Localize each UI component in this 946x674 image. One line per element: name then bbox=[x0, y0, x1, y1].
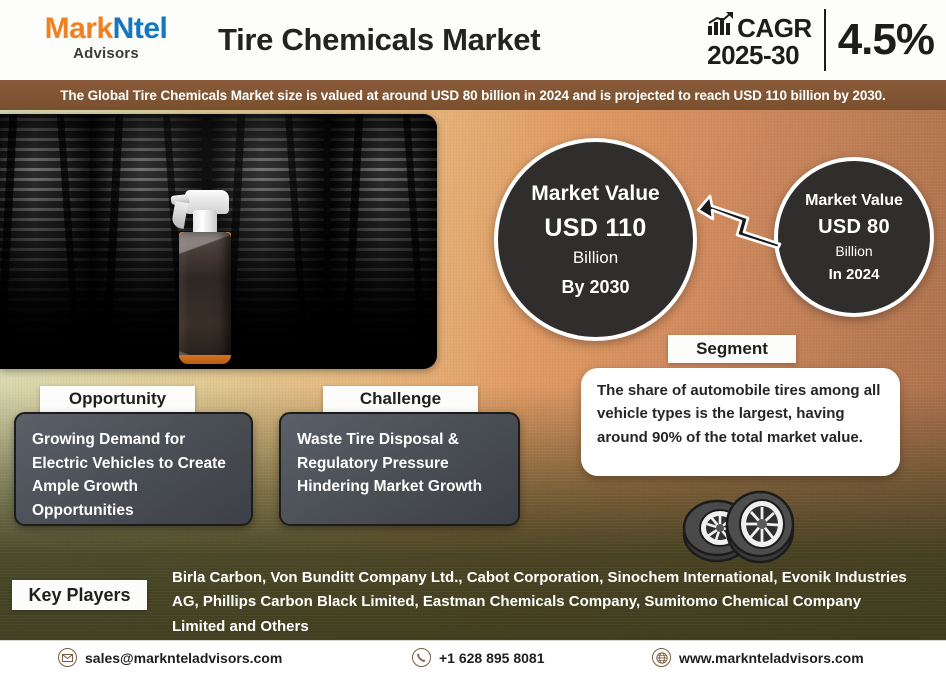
cagr-block: CAGR 2025-30 4.5% bbox=[707, 6, 934, 74]
segment-card: The share of automobile tires among all … bbox=[581, 368, 900, 476]
company-logo[interactable]: MarkNtel Advisors bbox=[26, 14, 186, 62]
circle-2030-year: By 2030 bbox=[561, 277, 629, 298]
circle-2024-line1: Market Value bbox=[805, 192, 903, 210]
market-value-2024-circle: Market Value USD 80 Billion In 2024 bbox=[774, 157, 934, 317]
logo-wordmark: MarkNtel bbox=[26, 14, 186, 44]
logo-text-ntel: Ntel bbox=[113, 12, 168, 45]
phone-icon bbox=[412, 648, 431, 667]
circle-2030-unit: Billion bbox=[573, 248, 618, 268]
logo-tagline: Advisors bbox=[26, 45, 186, 62]
market-value-2030-circle: Market Value USD 110 Billion By 2030 bbox=[494, 138, 697, 341]
cagr-label: CAGR bbox=[737, 15, 812, 41]
opportunity-label-chip: Opportunity bbox=[40, 386, 195, 412]
footer-website[interactable]: www.marknteladvisors.com bbox=[652, 648, 864, 667]
hero-image-tires-and-spray-bottle bbox=[0, 114, 437, 369]
footer-phone[interactable]: +1 628 895 8081 bbox=[412, 648, 545, 667]
cagr-value: 4.5% bbox=[826, 18, 934, 62]
zigzag-growth-arrow bbox=[696, 192, 782, 252]
market-summary-bar: The Global Tire Chemicals Market size is… bbox=[0, 80, 946, 110]
key-players-list: Birla Carbon, Von Bunditt Company Ltd., … bbox=[172, 566, 912, 639]
segment-label-chip: Segment bbox=[668, 335, 796, 363]
cagr-label-group: CAGR 2025-30 bbox=[707, 11, 824, 69]
circle-2024-value: USD 80 bbox=[818, 216, 890, 239]
footer-email-text: sales@marknteladvisors.com bbox=[85, 650, 282, 666]
circle-2024-unit: Billion bbox=[835, 243, 872, 259]
logo-text-mark: Mark bbox=[45, 12, 113, 45]
cagr-years: 2025-30 bbox=[707, 42, 799, 69]
circle-2024-year: In 2024 bbox=[829, 266, 880, 283]
key-players-label-chip: Key Players bbox=[12, 580, 147, 610]
spray-bottle-graphic bbox=[179, 186, 231, 364]
footer-phone-text: +1 628 895 8081 bbox=[439, 650, 545, 666]
opportunity-card: Growing Demand for Electric Vehicles to … bbox=[14, 412, 253, 526]
page-title: Tire Chemicals Market bbox=[218, 14, 638, 66]
infographic-root: MarkNtel Advisors Tire Chemicals Market bbox=[0, 0, 946, 674]
circle-2030-line1: Market Value bbox=[531, 182, 659, 206]
globe-icon bbox=[652, 648, 671, 667]
two-tires-icon bbox=[672, 486, 802, 566]
bottle-body bbox=[179, 232, 231, 364]
envelope-icon bbox=[58, 648, 77, 667]
circle-2030-value: USD 110 bbox=[544, 214, 646, 243]
footer-email[interactable]: sales@marknteladvisors.com bbox=[58, 648, 282, 667]
challenge-label-chip: Challenge bbox=[323, 386, 478, 412]
header: MarkNtel Advisors Tire Chemicals Market bbox=[0, 0, 946, 80]
challenge-card: Waste Tire Disposal & Regulatory Pressur… bbox=[279, 412, 520, 526]
footer: sales@marknteladvisors.com +1 628 895 80… bbox=[0, 640, 946, 674]
bar-chart-growth-icon bbox=[707, 11, 734, 41]
footer-website-text: www.marknteladvisors.com bbox=[679, 650, 864, 666]
